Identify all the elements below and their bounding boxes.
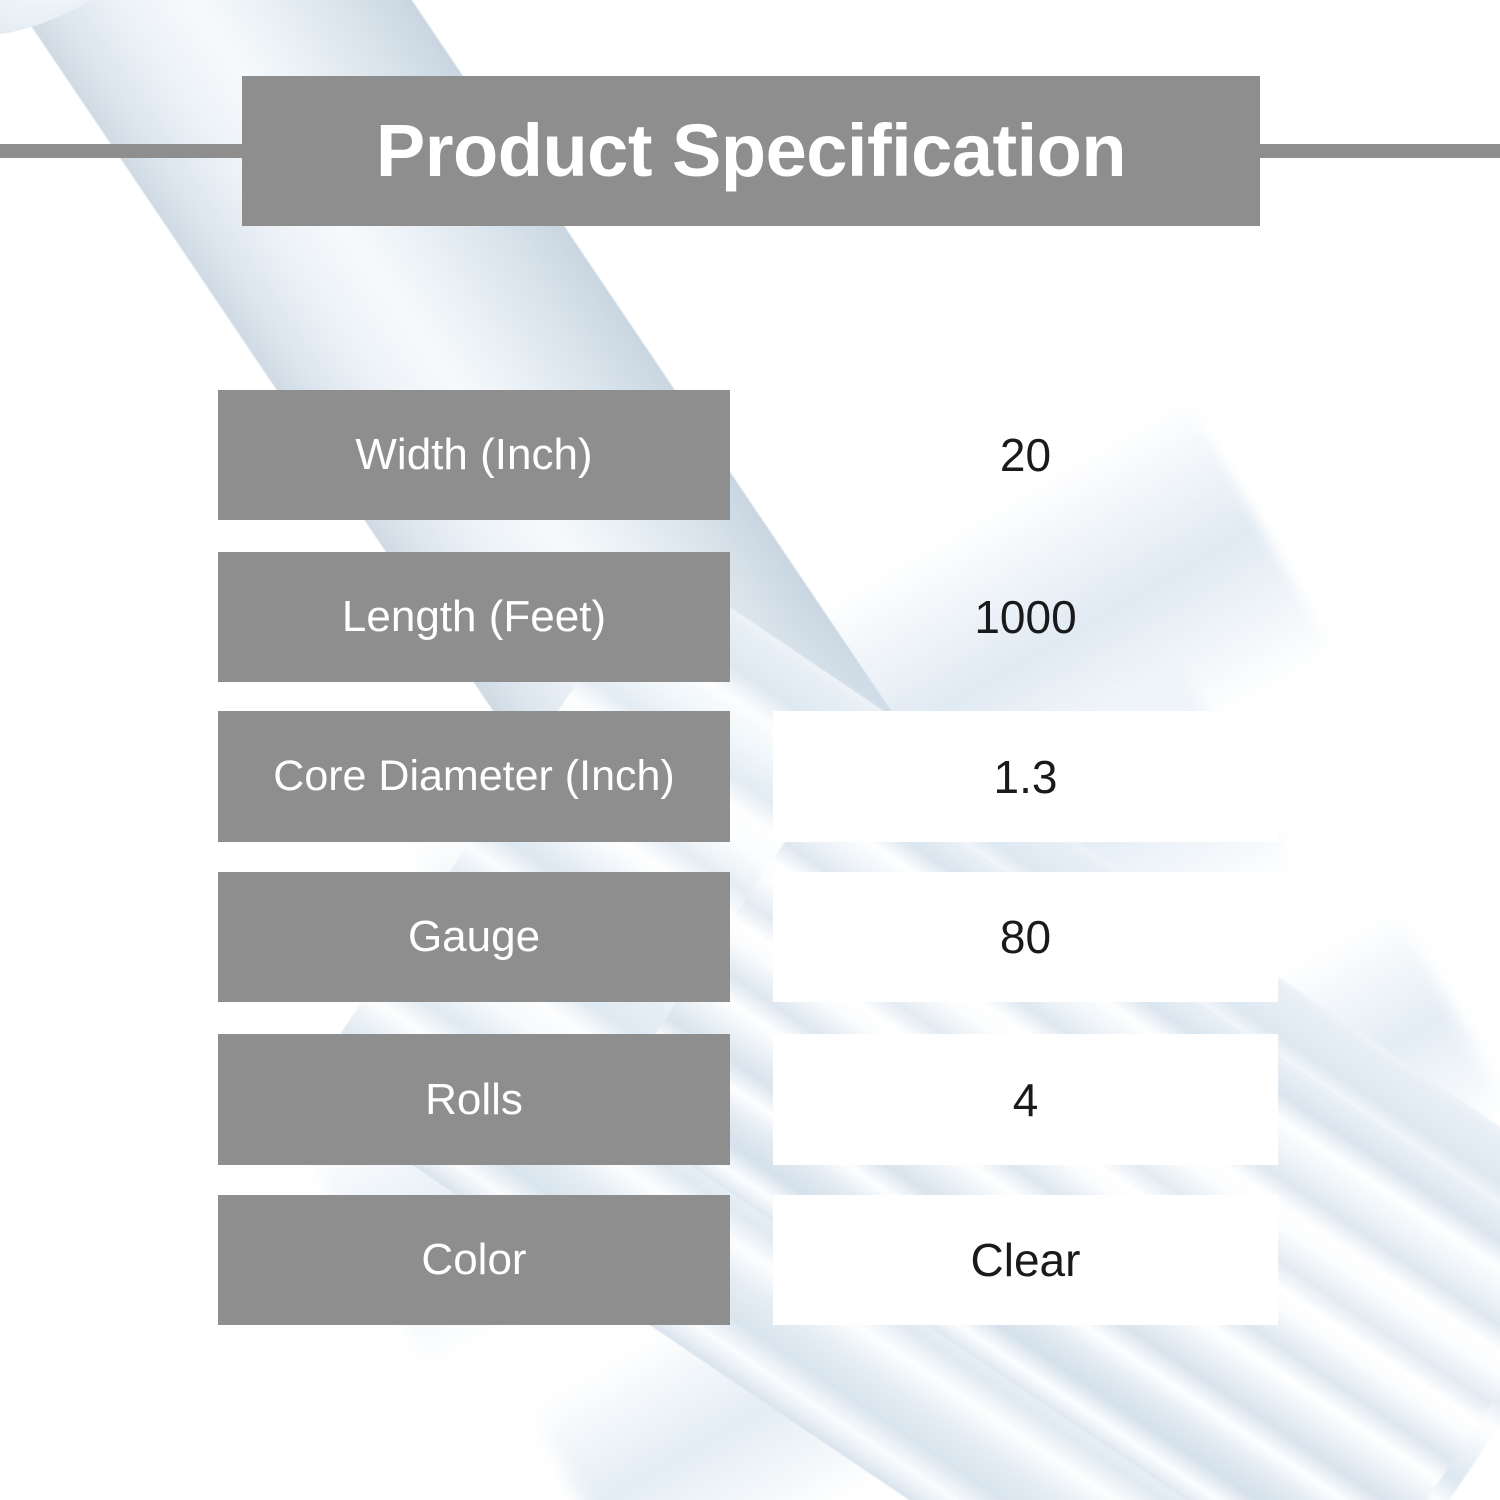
spec-label-gauge: Gauge [218,872,730,1002]
spec-label-rolls: Rolls [218,1034,730,1165]
spec-value-length: 1000 [773,552,1278,682]
spec-value-gauge: 80 [773,872,1278,1002]
product-specification-graphic: Product Specification Width (Inch) 20 Le… [0,0,1500,1500]
spec-value-width: 20 [773,390,1278,520]
spec-label-width: Width (Inch) [218,390,730,520]
spec-label-color: Color [218,1195,730,1325]
spec-label-length: Length (Feet) [218,552,730,682]
spec-value-rolls: 4 [773,1034,1278,1165]
spec-value-color: Clear [773,1195,1278,1325]
spec-label-core-diameter: Core Diameter (Inch) [218,711,730,842]
specification-table: Width (Inch) 20 Length (Feet) 1000 Core … [0,0,1500,1500]
spec-value-core-diameter: 1.3 [773,711,1278,842]
